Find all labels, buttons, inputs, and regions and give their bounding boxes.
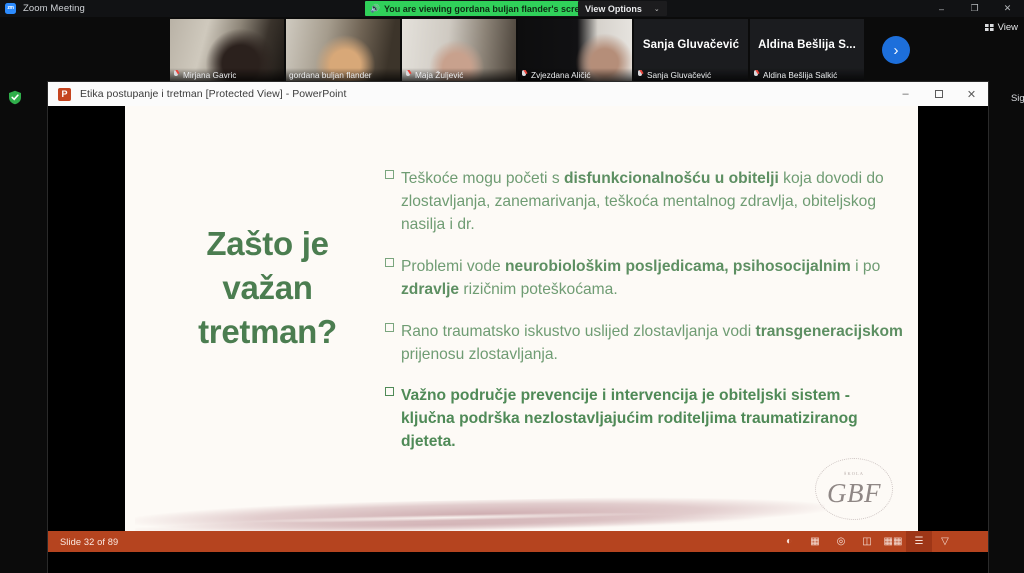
powerpoint-window-title: Etika postupanje i tretman [Protected Vi… bbox=[80, 88, 346, 100]
bullet-text-4: Važno područje prevencije i intervencija… bbox=[401, 387, 858, 450]
powerpoint-slide-area: Zašto je važan tretman? Teškoće mogu poč… bbox=[48, 106, 988, 552]
powerpoint-close-button[interactable]: ✕ bbox=[955, 82, 988, 106]
participant-filmstrip: Mirjana Gavric gordana buljan flander Ma… bbox=[170, 19, 926, 81]
view-button-label: View bbox=[998, 22, 1018, 33]
zoom-logo-icon: zm bbox=[5, 3, 16, 14]
participant-tile[interactable]: Sanja Gluvačević Sanja Gluvačević bbox=[634, 19, 748, 81]
grid-icon bbox=[985, 24, 994, 32]
bullet-text-1: Teškoće mogu početi s disfunkcionalnošću… bbox=[401, 170, 884, 233]
zoom-minimize-button[interactable]: – bbox=[925, 0, 958, 17]
maximize-icon bbox=[935, 90, 943, 98]
mic-muted-icon bbox=[173, 70, 180, 79]
participant-name: Zvjezdana Aličić bbox=[531, 70, 591, 80]
powerpoint-minimize-button[interactable]: – bbox=[889, 82, 922, 106]
participant-name: Mirjana Gavric bbox=[183, 70, 236, 80]
participant-name-badge: Aldina Bešlija Salkić bbox=[750, 68, 864, 81]
slide-canvas: Zašto je važan tretman? Teškoće mogu poč… bbox=[125, 106, 918, 552]
slide-sorter-icon[interactable]: ▦▦ bbox=[880, 531, 906, 552]
slide-bullet-list: Teškoće mogu početi s disfunkcionalnošću… bbox=[385, 168, 903, 473]
gbf-logo: ŠKOLA GBF bbox=[815, 458, 893, 520]
bullet-text-3: Rano traumatsko iskustvo uslijed zlostav… bbox=[401, 323, 903, 363]
slide-bullet-item: Važno područje prevencije i intervencija… bbox=[385, 385, 903, 454]
powerpoint-title-bar: Etika postupanje i tretman [Protected Vi… bbox=[48, 82, 988, 106]
participant-name-badge: gordana buljan flander bbox=[286, 68, 400, 81]
reading-view-icon[interactable]: ☰ bbox=[906, 531, 932, 552]
play-icon[interactable]: ◎ bbox=[828, 531, 854, 552]
participant-display-name: Aldina Bešlija S... bbox=[758, 39, 856, 51]
powerpoint-window: Etika postupanje i tretman [Protected Vi… bbox=[48, 82, 988, 573]
mic-muted-icon bbox=[405, 70, 412, 79]
mic-muted-icon bbox=[637, 70, 644, 79]
participant-display-name: Sanja Gluvačević bbox=[643, 39, 739, 51]
participant-name-badge: Mirjana Gavric bbox=[170, 68, 284, 81]
participant-name: Sanja Gluvačević bbox=[647, 70, 711, 80]
mic-muted-icon bbox=[521, 70, 528, 79]
participant-tile[interactable]: Maja Žuljević bbox=[402, 19, 516, 81]
checkbox-bullet-icon bbox=[385, 258, 394, 267]
slide-title: Zašto je važan tretman? bbox=[160, 222, 375, 354]
logo-top-text: ŠKOLA bbox=[815, 471, 893, 476]
powerpoint-status-bar: Slide 32 of 89 ◐ ▦ ◎ ◫ ▦▦ ☰ ▽ bbox=[48, 531, 988, 552]
checkbox-bullet-icon bbox=[385, 170, 394, 179]
zoom-title-bar: zm Zoom Meeting 🔊 You are viewing gordan… bbox=[0, 0, 1024, 17]
chevron-down-icon: ⌄ bbox=[654, 5, 660, 13]
sign-in-button[interactable]: Sign in bbox=[1011, 93, 1024, 104]
share-banner-text: You are viewing gordana buljan flander's… bbox=[384, 4, 590, 14]
view-options-label: View Options bbox=[585, 4, 642, 14]
participant-name-badge: Sanja Gluvačević bbox=[634, 68, 748, 81]
participant-tile[interactable]: Zvjezdana Aličić bbox=[518, 19, 632, 81]
participant-tile[interactable]: Mirjana Gavric bbox=[170, 19, 284, 81]
shield-check-icon bbox=[8, 90, 22, 105]
slideshow-icon[interactable]: ▽ bbox=[932, 531, 958, 552]
notes-icon[interactable]: ▦ bbox=[802, 531, 828, 552]
zoom-meeting-window: zm Zoom Meeting 🔊 You are viewing gordan… bbox=[0, 0, 1024, 573]
slide-number-label: Slide 32 of 89 bbox=[60, 537, 118, 547]
participant-name: gordana buljan flander bbox=[289, 70, 372, 80]
logo-main-text: GBF bbox=[815, 478, 893, 509]
participant-name-badge: Zvjezdana Aličić bbox=[518, 68, 632, 81]
view-options-button[interactable]: View Options ⌄ bbox=[578, 1, 667, 16]
accessibility-icon[interactable]: ◐ bbox=[776, 531, 802, 552]
checkbox-bullet-icon bbox=[385, 387, 394, 396]
chevron-right-icon: › bbox=[882, 36, 910, 64]
participant-name: Aldina Bešlija Salkić bbox=[763, 70, 837, 80]
view-layout-button[interactable]: View bbox=[985, 22, 1018, 33]
zoom-window-controls: – ❐ ✕ bbox=[925, 0, 1024, 17]
slide-bullet-item: Rano traumatsko iskustvo uslijed zlostav… bbox=[385, 321, 903, 367]
zoom-maximize-button[interactable]: ❐ bbox=[958, 0, 991, 17]
mic-muted-icon bbox=[753, 70, 760, 79]
participant-tile[interactable]: Aldina Bešlija S... Aldina Bešlija Salki… bbox=[750, 19, 864, 81]
slide-bullet-item: Problemi vode neurobiološkim posljedicam… bbox=[385, 256, 903, 302]
participant-name: Maja Žuljević bbox=[415, 70, 463, 80]
screen-share-banner: 🔊 You are viewing gordana buljan flander… bbox=[365, 1, 597, 16]
filmstrip-next-button[interactable]: › bbox=[866, 19, 926, 81]
zoom-close-button[interactable]: ✕ bbox=[991, 0, 1024, 17]
checkbox-bullet-icon bbox=[385, 323, 394, 332]
status-bar-icons: ◐ ▦ ◎ ◫ ▦▦ ☰ ▽ bbox=[776, 531, 958, 552]
powerpoint-icon bbox=[58, 88, 71, 101]
participant-tile[interactable]: gordana buljan flander bbox=[286, 19, 400, 81]
normal-view-icon[interactable]: ◫ bbox=[854, 531, 880, 552]
participant-name-badge: Maja Žuljević bbox=[402, 68, 516, 81]
slide-bullet-item: Teškoće mogu početi s disfunkcionalnošću… bbox=[385, 168, 903, 237]
zoom-window-title: Zoom Meeting bbox=[23, 3, 85, 14]
bullet-text-2: Problemi vode neurobiološkim posljedicam… bbox=[401, 258, 880, 298]
powerpoint-window-controls: – ✕ bbox=[889, 82, 988, 106]
speaker-icon: 🔊 bbox=[370, 4, 380, 13]
powerpoint-maximize-button[interactable] bbox=[922, 82, 955, 106]
